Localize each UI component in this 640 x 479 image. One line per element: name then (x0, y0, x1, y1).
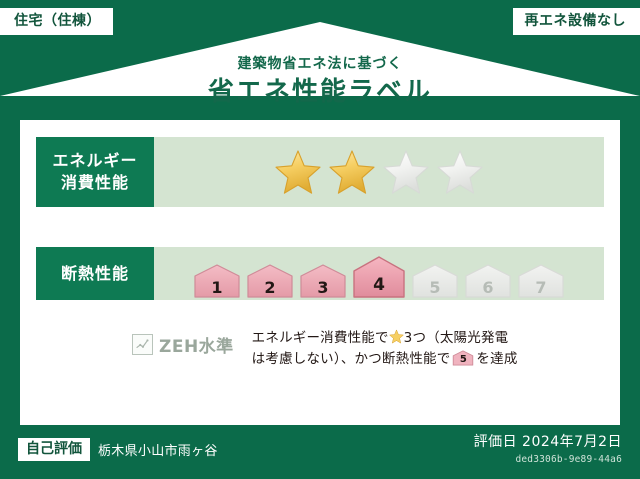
star-icon-empty-4 (436, 149, 484, 195)
zeh-target-insulation-value: 5 (451, 355, 475, 365)
zeh-note: ZEH水準 エネルギー消費性能で3つ（太陽光発電は考慮しない）、かつ断熱性能で5… (36, 322, 604, 370)
self-evaluation-badge: 自己評価 (18, 438, 90, 461)
evaluation-date: 評価日 2024年7月2日 (474, 431, 622, 451)
insulation-level-7: 7 (517, 263, 565, 299)
energy-performance-row: エネルギー 消費性能 (36, 137, 604, 207)
insulation-level-1: 1 (193, 263, 241, 299)
zeh-mark: ZEH水準 (132, 322, 234, 357)
zeh-target-insulation-badge: 5 (451, 350, 475, 366)
zeh-label: ZEH水準 (159, 332, 234, 357)
zeh-desc-part2: 3つ（太陽光発電 (404, 330, 509, 346)
property-location: 栃木県小山市雨ヶ谷 (98, 440, 218, 459)
insulation-level-5-value: 5 (411, 280, 459, 296)
renewable-equipment-tag: 再エネ設備なし (513, 8, 640, 35)
insulation-level-2-value: 2 (246, 280, 294, 296)
insulation-level-7-value: 7 (517, 280, 565, 296)
insulation-level-4-value: 4 (352, 277, 406, 294)
page-title: 省エネ性能ラベル (0, 78, 640, 108)
insulation-level-4-current: 4 (352, 255, 406, 299)
star-icon-inline (389, 329, 404, 344)
insulation-level-3-value: 3 (299, 280, 347, 296)
label-panel: いい部屋ネット エネルギー 消費性能 (20, 120, 620, 425)
star-icon-filled-2 (328, 149, 376, 195)
energy-performance-row-label: エネルギー 消費性能 (36, 137, 154, 207)
star-rating (274, 149, 484, 195)
insulation-label-line1: 断熱性能 (61, 263, 129, 285)
footer-right: 評価日 2024年7月2日 ded3306b-9e89-44a6 (474, 431, 622, 465)
insulation-level-2: 2 (246, 263, 294, 299)
document-id: ded3306b-9e89-44a6 (474, 454, 622, 465)
insulation-performance-row-label: 断熱性能 (36, 247, 154, 300)
title-block: 建築物省エネ法に基づく 省エネ性能ラベル (0, 56, 640, 108)
zeh-desc-part1: エネルギー消費性能で (252, 330, 389, 346)
insulation-level-6: 6 (464, 263, 512, 299)
insulation-level-3: 3 (299, 263, 347, 299)
insulation-level-6-value: 6 (464, 280, 512, 296)
insulation-level-scale: 1 2 3 (193, 247, 565, 300)
insulation-level-1-value: 1 (193, 280, 241, 296)
energy-label-line2: 消費性能 (61, 172, 129, 194)
zeh-check-icon (132, 334, 153, 355)
building-type-tag: 住宅（住棟） (0, 8, 113, 35)
insulation-performance-row: 断熱性能 (36, 247, 604, 300)
footer-left: 自己評価 栃木県小山市雨ヶ谷 (18, 438, 218, 461)
zeh-desc-part3: は考慮しない）、かつ断熱性能で (252, 351, 451, 367)
zeh-description: エネルギー消費性能で3つ（太陽光発電は考慮しない）、かつ断熱性能で5を達成 (252, 322, 518, 370)
energy-label-line1: エネルギー (52, 150, 137, 172)
zeh-desc-part4: を達成 (476, 351, 517, 367)
insulation-level-5: 5 (411, 263, 459, 299)
energy-performance-row-body (154, 137, 604, 207)
star-icon-filled-1 (274, 149, 322, 195)
star-icon-empty-3 (382, 149, 430, 195)
title-subtitle: 建築物省エネ法に基づく (0, 56, 640, 73)
insulation-performance-row-body: 1 2 3 (154, 247, 604, 300)
energy-performance-label: 住宅（住棟） 再エネ設備なし 建築物省エネ法に基づく 省エネ性能ラベル いい部屋… (0, 0, 640, 479)
